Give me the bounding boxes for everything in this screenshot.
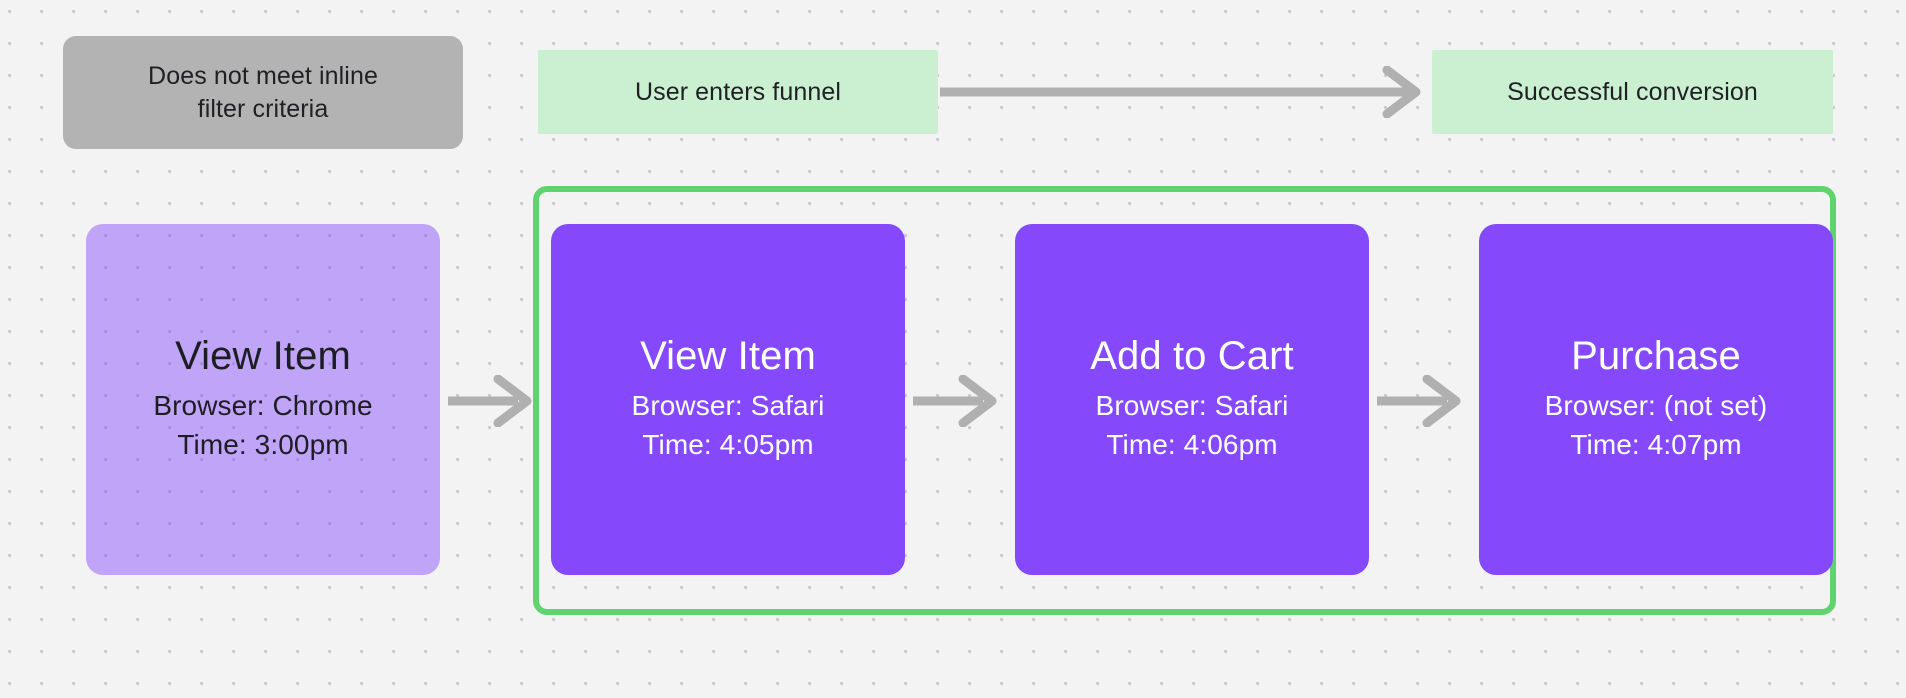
event-card-add-to-cart[interactable]: Add to Cart Browser: Safari Time: 4:06pm [1015, 224, 1369, 575]
legend-enters-funnel-chip: User enters funnel [538, 50, 938, 134]
event-card-title: Purchase [1571, 334, 1741, 379]
legend-enters-funnel-label: User enters funnel [635, 76, 841, 109]
event-card-view-item-included[interactable]: View Item Browser: Safari Time: 4:05pm [551, 224, 905, 575]
event-card-title: Add to Cart [1090, 334, 1293, 379]
event-card-view-item-excluded[interactable]: View Item Browser: Chrome Time: 3:00pm [86, 224, 440, 575]
event-card-time: Time: 4:07pm [1570, 425, 1741, 465]
event-card-title: View Item [175, 334, 351, 379]
legend-excluded-label-line1: Does not meet inline [148, 60, 378, 93]
legend-successful-conversion-label: Successful conversion [1507, 76, 1758, 109]
legend-excluded-chip: Does not meet inline filter criteria [63, 36, 463, 149]
legend-successful-conversion-chip: Successful conversion [1432, 50, 1833, 134]
event-card-title: View Item [640, 334, 816, 379]
event-card-purchase[interactable]: Purchase Browser: (not set) Time: 4:07pm [1479, 224, 1833, 575]
legend-excluded-label-line2: filter criteria [148, 93, 378, 126]
event-card-browser: Browser: Safari [1096, 386, 1289, 426]
event-card-time: Time: 3:00pm [177, 425, 348, 465]
event-card-time: Time: 4:06pm [1106, 425, 1277, 465]
event-card-browser: Browser: (not set) [1545, 386, 1768, 426]
event-card-time: Time: 4:05pm [642, 425, 813, 465]
event-card-browser: Browser: Chrome [153, 386, 372, 426]
event-card-browser: Browser: Safari [632, 386, 825, 426]
